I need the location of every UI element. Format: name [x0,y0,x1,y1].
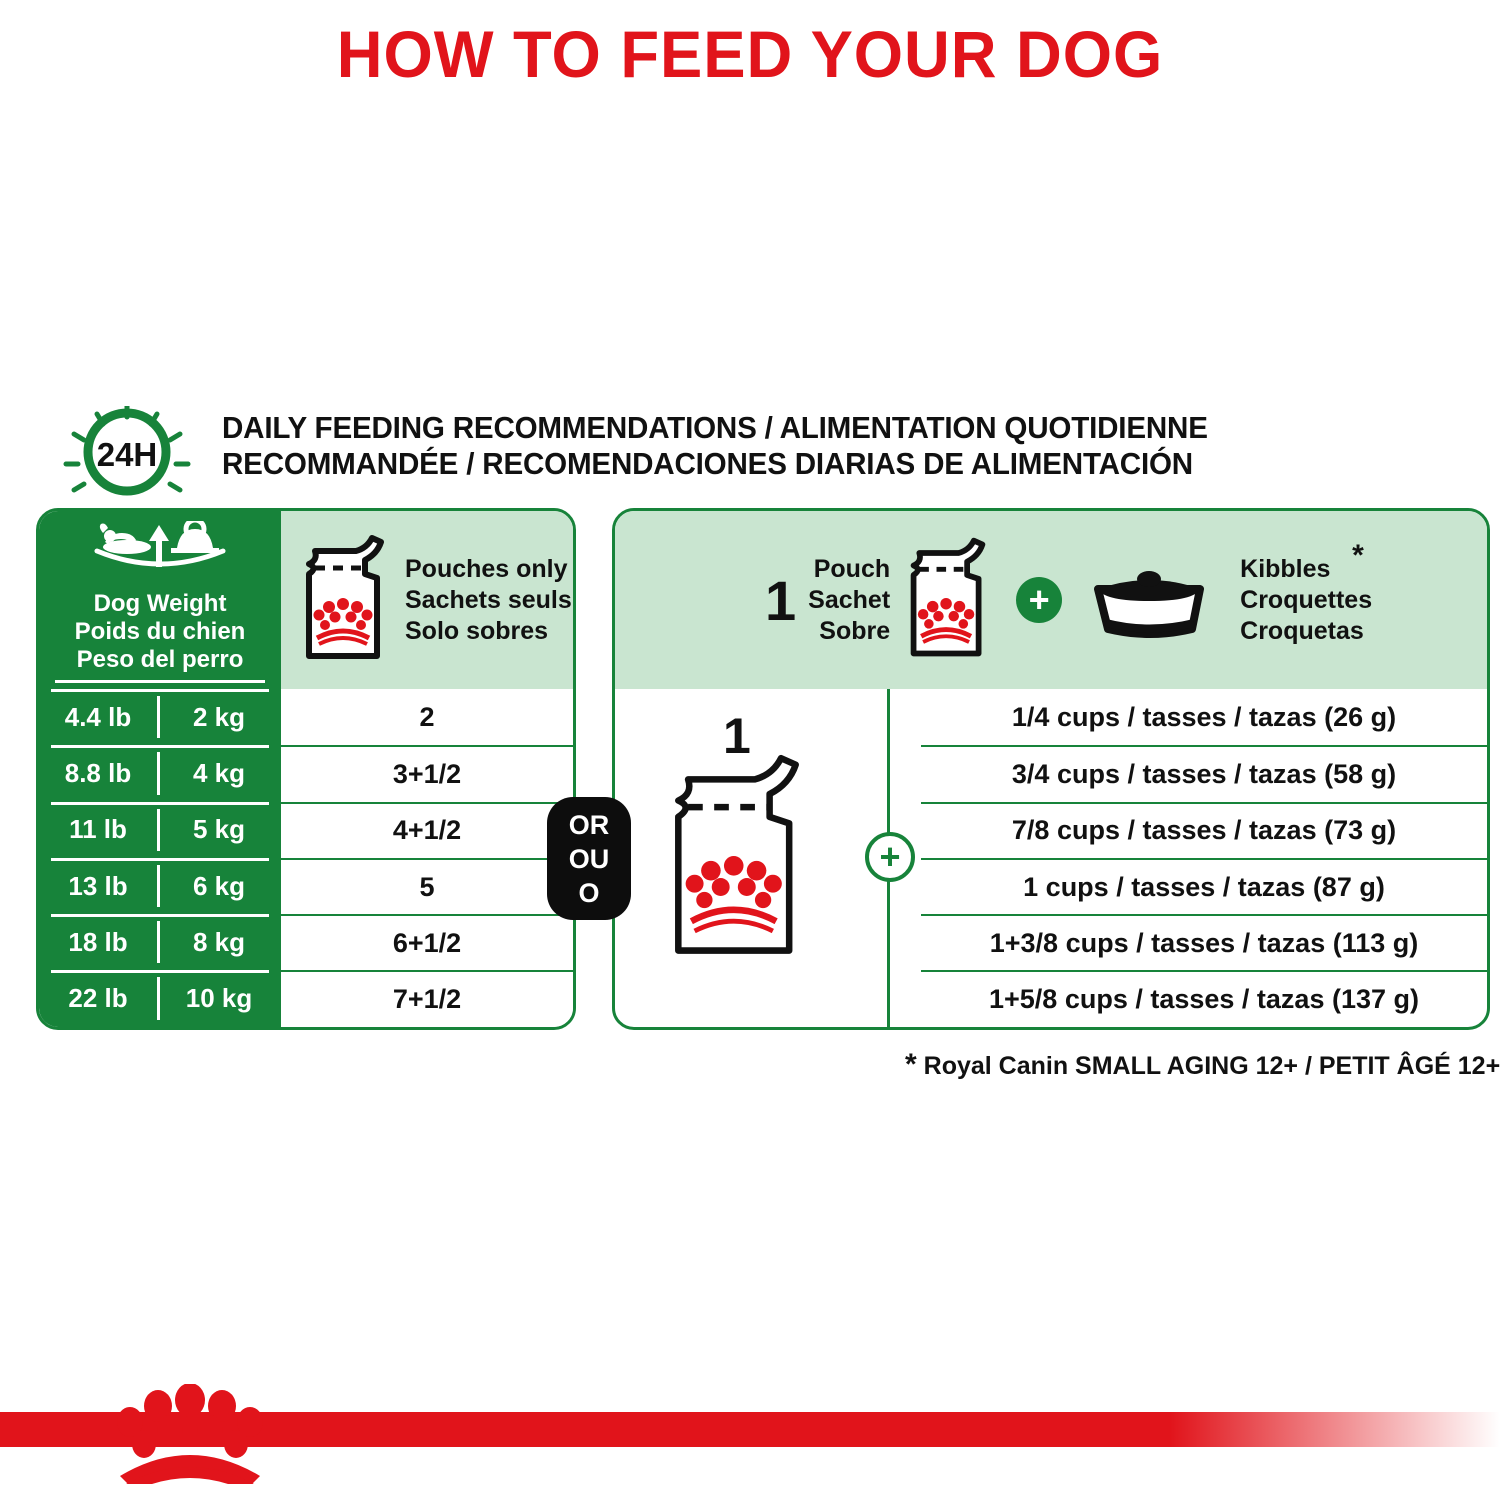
pouch-labels: Pouch Sachet Sobre [808,554,890,647]
right-table-body: 1 [615,689,1487,1027]
section-header: 24H DAILY FEEDING RECOMMENDATIONS / ALIM… [52,404,1452,496]
section-heading: DAILY FEEDING RECOMMENDATIONS / ALIMENTA… [222,410,1415,482]
right-table-header: 1 Pouch Sachet Sobre [615,511,1487,689]
pouches-only-header: Pouches only Sachets seuls Solo sobres [281,511,573,689]
dog-weight-label-fr: Poids du chien [75,618,246,646]
kibble-value: 1+3/8 cups / tasses / tazas (113 g) [921,914,1487,970]
table-row: 22 lb 10 kg 7+1/2 [39,970,573,1026]
plus-column: + [859,689,921,1027]
kibble-values-column: 1/4 cups / tasses / tazas (26 g) 3/4 cup… [921,689,1487,1027]
page-title: HOW TO FEED YOUR DOG [30,16,1470,92]
weight-lb: 13 lb [39,871,157,902]
weight-cell: 4.4 lb 2 kg [39,689,281,745]
weight-kg: 6 kg [157,871,281,902]
pouches-value: 4+1/2 [281,802,573,858]
section-heading-line1: DAILY FEEDING RECOMMENDATIONS / ALIMENTA… [222,410,1415,446]
kibble-value: 1+5/8 cups / tasses / tazas (137 g) [921,970,1487,1026]
pouch-illustration-cell: 1 [615,689,859,1027]
weight-lb: 18 lb [39,927,157,958]
pouches-only-label-fr: Sachets seuls [405,585,572,616]
pouch-plus-kibble-table: 1 Pouch Sachet Sobre [612,508,1490,1030]
left-table-rows: 4.4 lb 2 kg 2 8.8 lb 4 kg 3+1/2 11 lb [39,689,573,1027]
pouch-icon-small [904,536,992,665]
kibble-labels: * Kibbles Croquettes Croquetas [1240,554,1372,647]
clock-badge-label: 24H [97,436,158,473]
clock-24h-icon: 24H [62,406,192,498]
plus-symbol: + [1029,583,1050,617]
or-label-en: OR [569,808,610,842]
weight-kg: 8 kg [157,927,281,958]
dog-weight-label-es: Peso del perro [77,646,244,674]
weight-cell: 13 lb 6 kg [39,858,281,914]
weight-kg: 2 kg [157,702,281,733]
pouch-illustration-number: 1 [723,707,751,765]
pouches-value: 2 [281,689,573,745]
kibble-asterisk: * [1352,540,1364,571]
pouches-value: 5 [281,858,573,914]
weight-cell: 18 lb 8 kg [39,914,281,970]
table-row: 11 lb 5 kg 4+1/2 [39,802,573,858]
kibble-value: 7/8 cups / tasses / tazas (73 g) [921,802,1487,858]
cell-divider [157,696,160,738]
table-row: 8.8 lb 4 kg 3+1/2 [39,745,573,801]
dog-weight-label-en: Dog Weight [94,590,227,618]
dog-weight-scale-icon [85,521,235,588]
pouch-label-fr: Sachet [808,585,890,616]
royal-canin-crown-logo [100,1384,280,1484]
footnote-asterisk: * [905,1048,917,1081]
weight-lb: 4.4 lb [39,702,157,733]
pouches-only-table: Dog Weight Poids du chien Peso del perro [36,508,576,1030]
cell-divider [157,921,160,963]
kibble-label-es: Croquetas [1240,616,1372,647]
kibble-label-fr: Croquettes [1240,585,1372,616]
pouch-label-es: Sobre [808,616,890,647]
plus-symbol: + [879,841,900,873]
or-badge: OR OU O [547,797,631,920]
kibble-value: 1/4 cups / tasses / tazas (26 g) [921,689,1487,745]
feeding-guide-page: HOW TO FEED YOUR DOG 24H [0,0,1500,1500]
table-row: 13 lb 6 kg 5 [39,858,573,914]
table-row: 4.4 lb 2 kg 2 [39,689,573,745]
pouches-only-label-en: Pouches only [405,554,572,585]
footnote: * Royal Canin SMALL AGING 12+ / PETIT ÂG… [905,1048,1500,1082]
pouch-icon-small [299,534,391,667]
footnote-text: Royal Canin SMALL AGING 12+ / PETIT ÂGÉ … [924,1052,1500,1080]
or-label-es: O [578,876,599,910]
weight-cell: 11 lb 5 kg [39,802,281,858]
kibble-bowl-icon [1086,557,1214,644]
pouch-count: 1 [765,568,796,633]
weight-lb: 22 lb [39,983,157,1014]
weight-cell: 22 lb 10 kg [39,970,281,1026]
weight-lb: 8.8 lb [39,758,157,789]
weight-cell: 8.8 lb 4 kg [39,745,281,801]
pouches-value: 7+1/2 [281,970,573,1026]
section-heading-line2: RECOMMANDÉE / RECOMENDACIONES DIARIAS DE… [222,446,1415,482]
plus-icon-header: + [1016,577,1062,623]
kibble-value: 1 cups / tasses / tazas (87 g) [921,858,1487,914]
pouches-only-labels: Pouches only Sachets seuls Solo sobres [405,554,572,647]
weight-kg: 5 kg [157,814,281,845]
kibble-value: 3/4 cups / tasses / tazas (58 g) [921,745,1487,801]
cell-divider [157,809,160,851]
pouches-value: 6+1/2 [281,914,573,970]
dog-weight-header: Dog Weight Poids du chien Peso del perro [39,511,281,689]
weight-kg: 4 kg [157,758,281,789]
cell-divider [157,865,160,907]
pouches-value: 3+1/2 [281,745,573,801]
or-label-fr: OU [569,842,610,876]
cell-divider [157,977,160,1019]
table-row: 18 lb 8 kg 6+1/2 [39,914,573,970]
cell-divider [157,752,160,794]
pouches-only-label-es: Solo sobres [405,616,572,647]
left-table-header: Dog Weight Poids du chien Peso del perro [39,511,573,689]
weight-kg: 10 kg [157,983,281,1014]
pouch-label-en: Pouch [808,554,890,585]
header-divider [55,680,265,683]
plus-icon-body: + [865,832,915,882]
pouch-icon-large [662,751,812,966]
weight-lb: 11 lb [39,814,157,845]
